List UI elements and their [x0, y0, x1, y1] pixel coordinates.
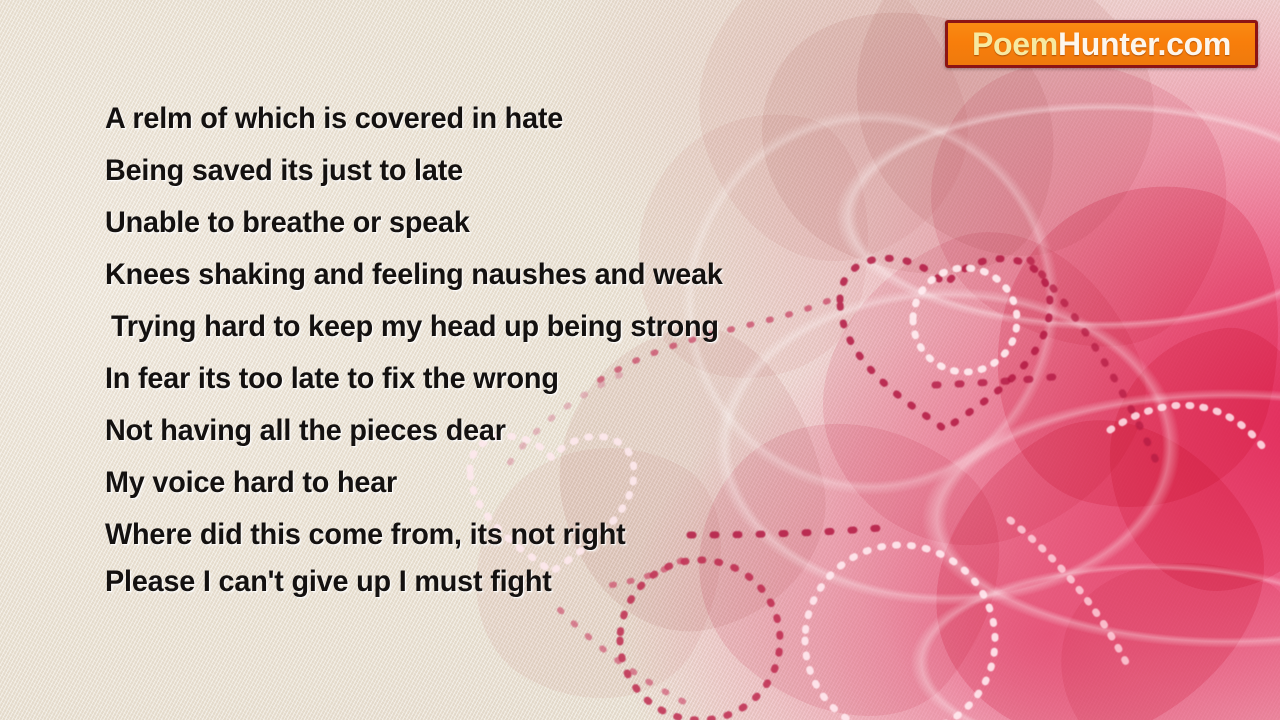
- poem-line: Being saved its just to late: [105, 154, 463, 188]
- poem-line: My voice hard to hear: [105, 466, 397, 500]
- poemhunter-logo[interactable]: PoemHunter.com: [945, 20, 1258, 68]
- poem-line: A relm of which is covered in hate: [105, 102, 563, 136]
- poem-line: Trying hard to keep my head up being str…: [111, 310, 719, 344]
- poem-line: Where did this come from, its not right: [105, 518, 626, 552]
- poem-line: Unable to breathe or speak: [105, 206, 470, 240]
- poem-line: Knees shaking and feeling naushes and we…: [105, 258, 723, 292]
- poemhunter-logo-text: PoemHunter.com: [972, 28, 1231, 60]
- poem-line: Not having all the pieces dear: [105, 414, 506, 448]
- poem-image-canvas: A relm of which is covered in hate Being…: [0, 0, 1280, 720]
- logo-brand-first: Poem: [972, 26, 1058, 62]
- poem-line: In fear its too late to fix the wrong: [105, 362, 559, 396]
- poem-line: Please I can't give up I must fight: [105, 565, 552, 599]
- logo-brand-second: Hunter.com: [1058, 26, 1231, 62]
